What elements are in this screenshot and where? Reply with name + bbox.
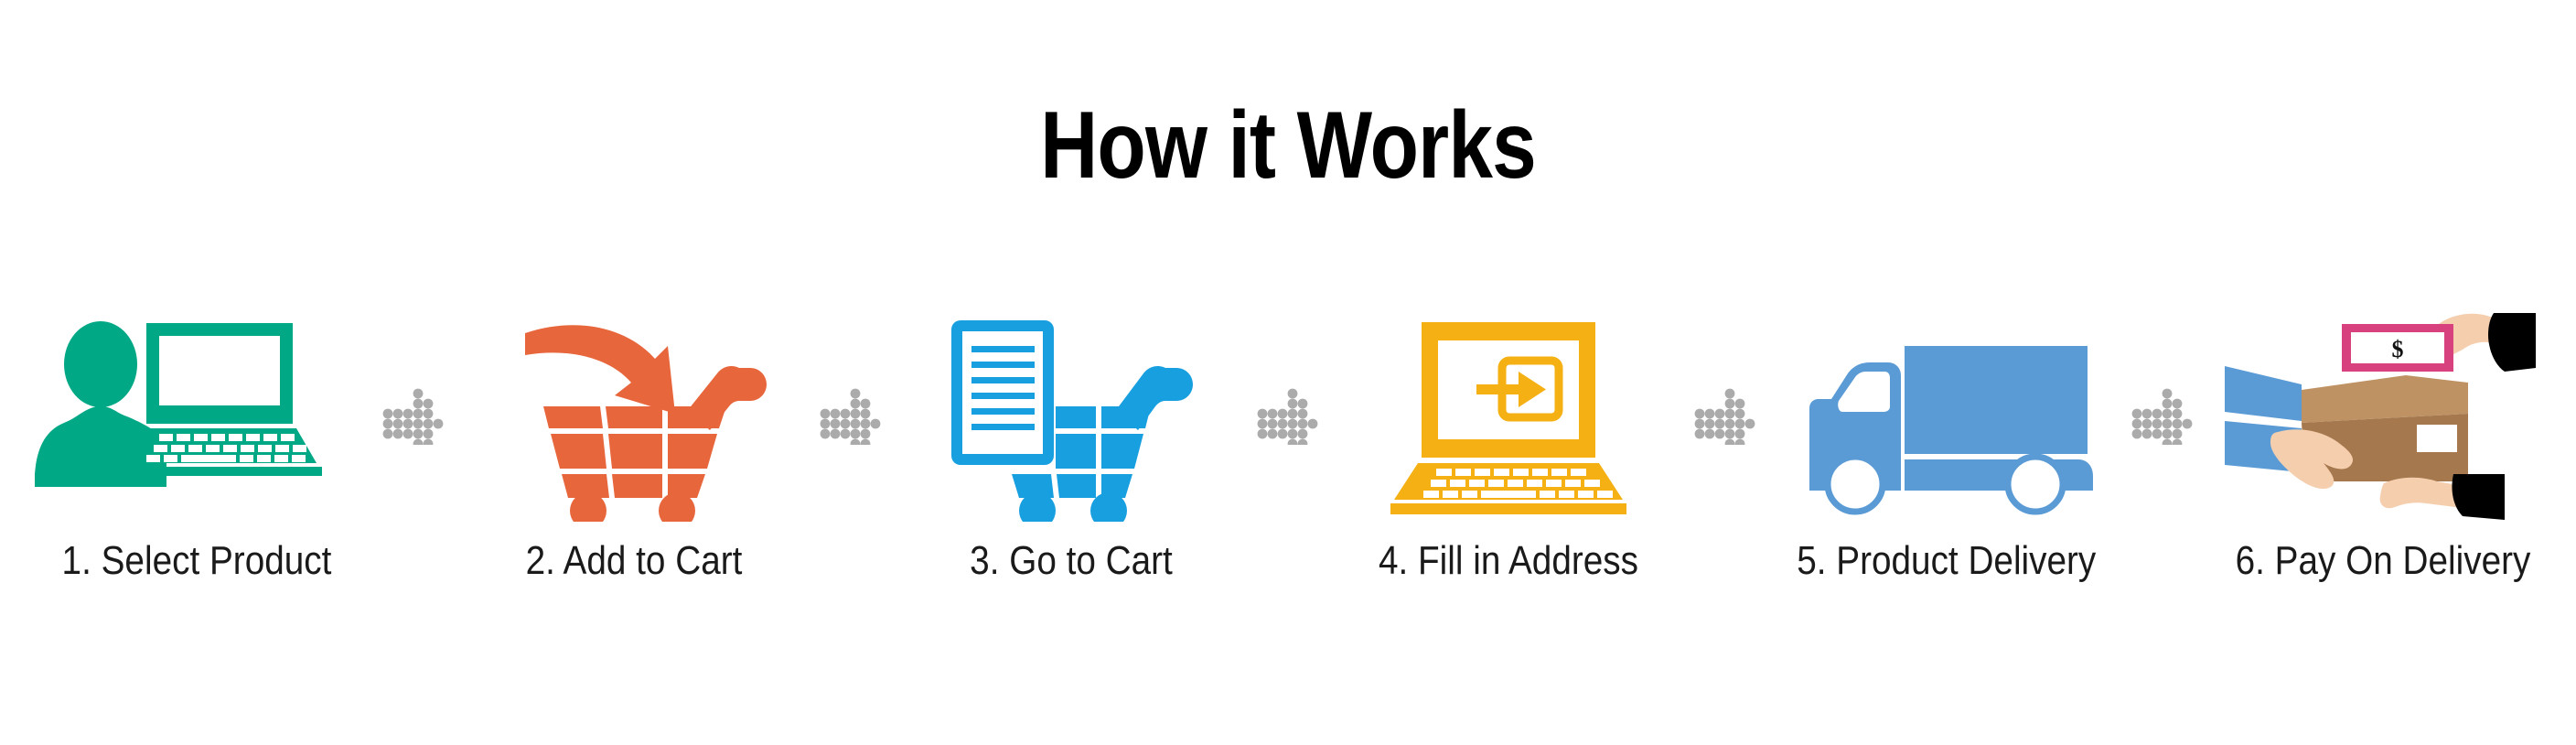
dotted-arrow-right-icon <box>377 311 454 522</box>
step-1-label: 1. Select Product <box>48 538 346 584</box>
step-4-label: 4. Fill in Address <box>1359 538 1658 584</box>
laptop-with-login-arrow-icon <box>1339 311 1678 522</box>
hands-exchanging-box-and-cash-icon: $ <box>2214 311 2552 522</box>
step-2-add-to-cart[interactable]: 2. Add to Cart <box>465 311 803 641</box>
step-3-label: 3. Go to Cart <box>922 538 1220 584</box>
dotted-arrow-right-icon <box>814 311 891 522</box>
step-2-label: 2. Add to Cart <box>485 538 783 584</box>
step-3-go-to-cart[interactable]: 3. Go to Cart <box>902 311 1240 641</box>
step-5-label: 5. Product Delivery <box>1797 538 2095 584</box>
delivery-truck-icon <box>1776 311 2115 522</box>
dollar-symbol: $ <box>2392 336 2404 362</box>
how-it-works-infographic: How it Works <box>0 0 2576 745</box>
step-4-fill-in-address[interactable]: 4. Fill in Address <box>1339 311 1678 641</box>
person-with-laptop-icon <box>27 311 366 522</box>
dotted-arrow-right-icon <box>1251 311 1328 522</box>
shopping-cart-with-arrow-icon <box>465 311 803 522</box>
box-shipping-label <box>2417 425 2457 452</box>
step-6-label: 6. Pay On Delivery <box>2234 538 2532 584</box>
blue-sleeve-upper <box>2225 366 2302 421</box>
step-6-pay-on-delivery[interactable]: $ <box>2214 311 2552 641</box>
step-5-product-delivery[interactable]: 5. Product Delivery <box>1776 311 2115 641</box>
step-1-select-product[interactable]: 1. Select Product <box>27 311 366 641</box>
page-title: How it Works <box>206 95 2369 196</box>
document-with-cart-icon <box>902 311 1240 522</box>
dotted-arrow-right-icon <box>1689 311 1766 522</box>
steps-row: 1. Select Product <box>27 311 2552 641</box>
dotted-arrow-right-icon <box>2126 311 2203 522</box>
